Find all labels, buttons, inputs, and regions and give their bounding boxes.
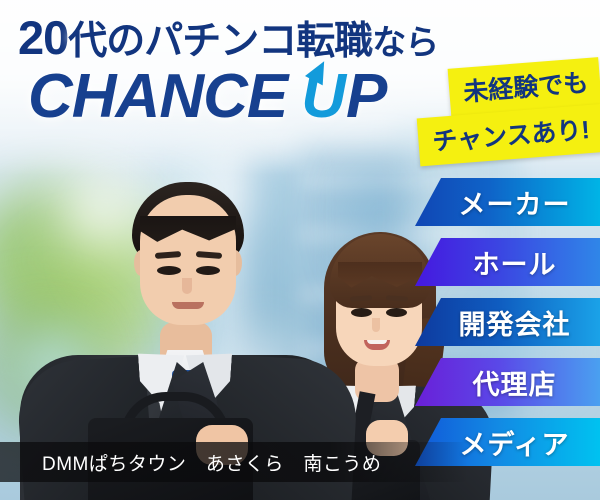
category-button-hall[interactable]: ホール <box>415 238 600 286</box>
category-label: メーカー <box>445 183 571 222</box>
category-button-list: メーカー ホール 開発会社 代理店 メディア <box>410 178 600 478</box>
caption-text: DMMぱちタウン あさくら 南こうめ <box>0 449 381 476</box>
headline-rest: 代のパチンコ転職 <box>68 20 372 63</box>
logo-letter-p: P <box>346 62 387 131</box>
headline-number: 20 <box>18 11 68 64</box>
woman-teeth <box>367 340 387 344</box>
category-button-maker[interactable]: メーカー <box>415 178 600 226</box>
category-label: ホール <box>459 243 557 282</box>
chance-up-logo: CHANCEUP <box>28 66 387 128</box>
ad-banner: 20代のパチンコ転職なら CHANCEUP 未経験でも チャンスあり! メーカー… <box>0 0 600 500</box>
category-label: 開発会社 <box>445 303 571 342</box>
category-button-agency[interactable]: 代理店 <box>415 358 600 406</box>
logo-word-chance: CHANCE <box>28 62 287 131</box>
logo-up-group: UP <box>301 66 387 128</box>
category-label: 代理店 <box>459 363 557 402</box>
caption-bar: DMMぱちタウン あさくら 南こうめ <box>0 442 600 482</box>
woman-nose <box>372 318 380 332</box>
man-nose <box>182 278 192 294</box>
headline-line: 20代のパチンコ転職なら <box>18 14 438 61</box>
man-eye-left <box>157 266 181 275</box>
woman-eye-left <box>351 308 372 317</box>
category-button-developer[interactable]: 開発会社 <box>415 298 600 346</box>
man-mouth <box>172 302 204 309</box>
man-eye-right <box>196 266 220 275</box>
headline: 20代のパチンコ転職なら <box>18 14 438 61</box>
woman-eye-right <box>386 308 407 317</box>
headline-suffix: なら <box>372 24 438 62</box>
